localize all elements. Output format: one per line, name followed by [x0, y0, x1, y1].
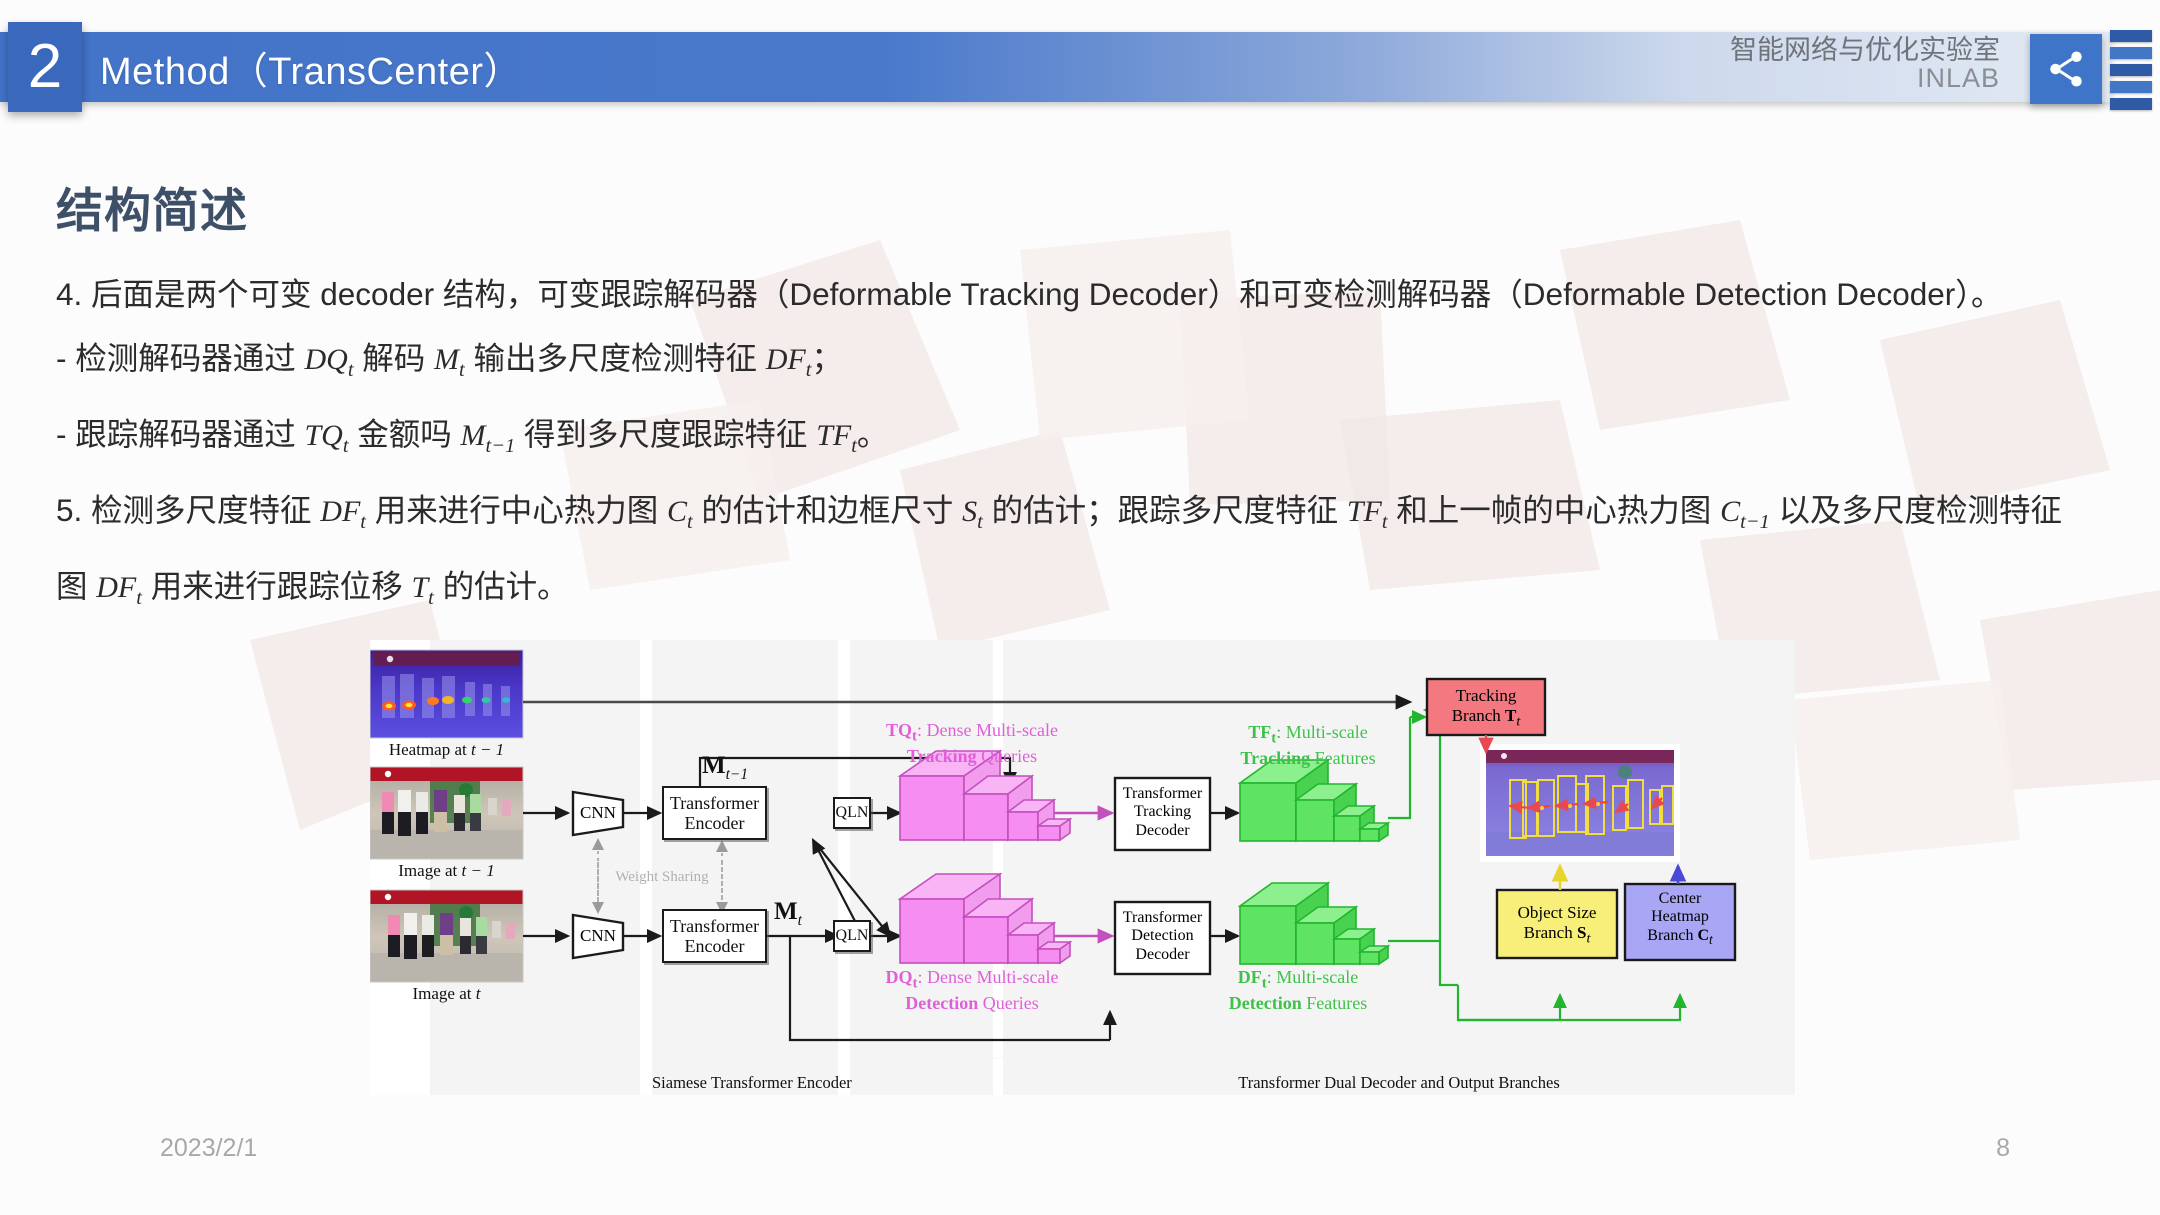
tracking-decoder-label: Transformer Tracking Decoder — [1115, 785, 1210, 840]
df-sym-text: DF — [1238, 967, 1262, 987]
section-label-encoder: Siamese Transformer Encoder — [652, 1073, 838, 1093]
image-thumbnail-prev — [370, 767, 523, 859]
l5-t2: 用来进行中心热力图 — [366, 492, 667, 528]
deco-bar-3 — [2110, 64, 2152, 76]
tracking-result-image — [1480, 744, 1680, 862]
l5-t4: 的估计；跟踪多尺度特征 — [983, 492, 1347, 528]
tracking-features-block — [1240, 760, 1388, 841]
tq-l2-bold: Tracking — [907, 746, 977, 766]
dq-l2-rest: Queries — [978, 993, 1038, 1013]
tracking-decoder-l3: Decoder — [1115, 822, 1210, 840]
m-prev-label: Mt−1 — [702, 752, 748, 784]
dash2-m2-sub: t−1 — [486, 435, 516, 457]
body-line-dash-1: - 检测解码器通过 DQt 解码 Mt 输出多尺度检测特征 DFt； — [56, 326, 2086, 402]
cnn-label-bottom: CNN — [573, 926, 623, 946]
dash1-m1-sym: DQ — [305, 343, 348, 376]
caption-image-prev: Image at t − 1 — [370, 861, 523, 881]
encoder-top-line1: Transformer — [670, 793, 759, 813]
df-l1-rest: : Multi-scale — [1267, 967, 1358, 987]
lab-branding: 智能网络与优化实验室 INLAB — [1730, 36, 2000, 93]
center-heatmap-l1: Center — [1625, 890, 1735, 908]
l5-m4-sym: TF — [1347, 495, 1382, 528]
df-l2-rest: Features — [1302, 993, 1367, 1013]
cnn-label-bottom-text: CNN — [580, 926, 616, 945]
dash1-t1: - 检测解码器通过 — [56, 340, 305, 376]
tf-sym-text: TF — [1248, 722, 1271, 742]
detection-queries-block — [900, 874, 1070, 963]
qln-top-text: QLN — [836, 804, 869, 822]
tf-sym: TFt — [1248, 722, 1276, 742]
center-heatmap-l3: Branch — [1647, 927, 1697, 944]
tracking-decoder-l1: Transformer — [1115, 785, 1210, 803]
caption-image-prev-text: Image at — [398, 861, 461, 880]
diagram-wires — [370, 640, 1795, 1095]
detection-features-block — [1240, 883, 1388, 964]
caption-image-prev-math: t − 1 — [462, 861, 495, 880]
dash1-t3: 输出多尺度检测特征 — [465, 340, 766, 376]
weight-sharing-text: Weight Sharing — [615, 869, 708, 885]
section-number-badge: 2 — [8, 22, 82, 112]
section-label-decoder: Transformer Dual Decoder and Output Bran… — [1003, 1073, 1795, 1093]
tq-label: TQt: Dense Multi-scale Tracking Queries — [857, 720, 1087, 767]
encoder-bottom-line2: Encoder — [670, 936, 759, 956]
dash2-m1-sym: TQ — [305, 419, 343, 452]
tracking-branch-l1: Tracking — [1427, 686, 1545, 706]
dq-sym-text: DQ — [886, 967, 913, 987]
l5-m6-sym: DF — [96, 571, 136, 604]
l5-m1: DFt — [320, 495, 366, 528]
center-heatmap-branch-label: Center Heatmap Branch Ct — [1625, 890, 1735, 947]
l5-m2-sym: C — [667, 495, 687, 528]
section-number: 2 — [28, 36, 62, 98]
dash2-t1: - 跟踪解码器通过 — [56, 416, 305, 452]
l5-m3-sym: S — [962, 495, 977, 528]
body-line-4-text: 4. 后面是两个可变 decoder 结构，可变跟踪解码器（Deformable… — [56, 276, 2003, 312]
caption-heatmap-prev-math: t − 1 — [471, 740, 504, 759]
dash1-m3: DFt — [766, 343, 812, 376]
deco-bar-2 — [2110, 47, 2152, 59]
l5-t7: 用来进行跟踪位移 — [142, 568, 412, 604]
tf-l2-rest: Features — [1310, 748, 1375, 768]
tf-l2-bold: Tracking — [1240, 748, 1310, 768]
dq-sym: DQt — [886, 967, 918, 987]
heatmap-thumbnail-prev — [370, 650, 523, 738]
tq-l1-rest: : Dense Multi-scale — [917, 720, 1058, 740]
object-size-sub: t — [1586, 930, 1590, 946]
tf-label: TFt: Multi-scale Tracking Features — [1208, 722, 1408, 769]
tf-l1-rest: : Multi-scale — [1276, 722, 1367, 742]
tq-sym-text: TQ — [886, 720, 912, 740]
detection-decoder-label: Transformer Detection Decoder — [1115, 909, 1210, 964]
dash1-m3-sym: DF — [766, 343, 806, 376]
l5-m6: DFt — [96, 571, 142, 604]
architecture-diagram: Heatmap at t − 1 Image at t − 1 Image at… — [370, 640, 1795, 1095]
l5-m5-sym: C — [1720, 495, 1740, 528]
transformer-encoder-bottom: Transformer Encoder — [662, 909, 767, 963]
df-l2-bold: Detection — [1229, 993, 1302, 1013]
object-size-branch-label: Object Size Branch St — [1497, 903, 1617, 946]
qln-bottom: QLN — [833, 920, 871, 952]
detection-decoder-l3: Decoder — [1115, 946, 1210, 964]
l5-m7: Tt — [411, 571, 433, 604]
center-heatmap-sym: Ct — [1697, 927, 1712, 944]
dq-l2-bold: Detection — [905, 993, 978, 1013]
dash2-m2-sym: M — [461, 419, 486, 452]
dash1-t2: 解码 — [354, 340, 435, 376]
tracking-branch-sym-text: T — [1505, 706, 1516, 725]
section-label-decoder-text: Transformer Dual Decoder and Output Bran… — [1238, 1073, 1560, 1092]
page-header-title: Method（TransCenter） — [100, 32, 522, 102]
dash2-t4: 。 — [857, 416, 889, 452]
decorative-bars — [2110, 30, 2152, 115]
center-heatmap-l2: Heatmap — [1625, 908, 1735, 926]
footer-date: 2023/2/1 — [160, 1134, 257, 1163]
dash2-m1: TQt — [305, 419, 349, 452]
caption-heatmap-prev-text: Heatmap at — [389, 740, 471, 759]
cnn-label-top-text: CNN — [580, 803, 616, 822]
transformer-encoder-top: Transformer Encoder — [662, 786, 767, 840]
cnn-label-top: CNN — [573, 803, 623, 823]
caption-image-cur: Image at t — [370, 984, 523, 1004]
lab-name-cn: 智能网络与优化实验室 — [1730, 36, 2000, 64]
l5-t3: 的估计和边框尺寸 — [693, 492, 963, 528]
dash1-m2-sym: M — [434, 343, 459, 376]
object-size-sym: St — [1577, 923, 1590, 942]
lab-name-en: INLAB — [1730, 64, 2000, 92]
df-label: DFt: Multi-scale Detection Features — [1198, 967, 1398, 1014]
qln-bottom-text: QLN — [836, 927, 869, 945]
encoder-bottom-line1: Transformer — [670, 916, 759, 936]
tracking-branch-l2: Branch — [1452, 706, 1505, 725]
caption-image-cur-text: Image at — [413, 984, 476, 1003]
encoder-top-line2: Encoder — [670, 813, 759, 833]
df-sym: DFt — [1238, 967, 1267, 987]
l5-m5-sub: t−1 — [1740, 511, 1770, 533]
dash2-m3: TFt — [816, 419, 857, 452]
image-thumbnail-cur — [370, 890, 523, 982]
dash1-m2: Mt — [434, 343, 465, 376]
object-size-l2: Branch — [1524, 923, 1577, 942]
body-line-5: 5. 检测多尺度特征 DFt 用来进行中心热力图 Ct 的估计和边框尺寸 St … — [56, 478, 2086, 630]
l5-m4: TFt — [1347, 495, 1388, 528]
center-heatmap-sym-text: C — [1697, 927, 1709, 944]
l5-m7-sym: T — [411, 571, 428, 604]
l5-m1-sym: DF — [320, 495, 360, 528]
detection-decoder-l2: Detection — [1115, 927, 1210, 945]
l5-t1: 5. 检测多尺度特征 — [56, 492, 320, 528]
dq-label: DQt: Dense Multi-scale Detection Queries — [857, 967, 1087, 1014]
tracking-branch-sub: t — [1516, 713, 1520, 729]
l5-m2: Ct — [667, 495, 693, 528]
l5-m3: St — [962, 495, 983, 528]
l5-t5: 和上一帧的中心热力图 — [1388, 492, 1721, 528]
deco-bar-4 — [2110, 81, 2152, 93]
tracking-branch-sym: Tt — [1505, 706, 1520, 725]
dash2-t3: 得到多尺度跟踪特征 — [515, 416, 816, 452]
dash2-m3-sym: TF — [816, 419, 851, 452]
tracking-decoder-l2: Tracking — [1115, 803, 1210, 821]
body-line-4: 4. 后面是两个可变 decoder 结构，可变跟踪解码器（Deformable… — [56, 262, 2086, 326]
slide-canvas: 2 Method（TransCenter） 智能网络与优化实验室 INLAB 结… — [0, 0, 2160, 1215]
page-title: 结构简述 — [56, 172, 248, 241]
deco-bar-5 — [2110, 98, 2152, 110]
l5-m5: Ct−1 — [1720, 495, 1770, 528]
tq-sym: TQt — [886, 720, 917, 740]
center-heatmap-sub: t — [1709, 932, 1713, 947]
share-icon — [2045, 48, 2087, 90]
qln-top: QLN — [833, 797, 871, 829]
dq-l1-rest: : Dense Multi-scale — [918, 967, 1059, 987]
body-text: 4. 后面是两个可变 decoder 结构，可变跟踪解码器（Deformable… — [56, 262, 2086, 630]
body-line-dash-2: - 跟踪解码器通过 TQt 金额吗 Mt−1 得到多尺度跟踪特征 TFt。 — [56, 402, 2086, 478]
section-label-encoder-text: Siamese Transformer Encoder — [652, 1073, 852, 1092]
caption-image-cur-math: t — [476, 984, 481, 1003]
m-prev-sub: t−1 — [726, 766, 749, 783]
dash2-m2: Mt−1 — [461, 419, 516, 452]
dash1-t4: ； — [811, 340, 843, 376]
dash2-t2: 金额吗 — [349, 416, 461, 452]
tq-l2-rest: Queries — [977, 746, 1037, 766]
caption-heatmap-prev: Heatmap at t − 1 — [370, 740, 523, 760]
deco-bar-1 — [2110, 30, 2152, 42]
m-cur-label: Mt — [774, 898, 802, 930]
footer-page-number: 8 — [1996, 1134, 2010, 1163]
tracking-branch-label: Tracking Branch Tt — [1427, 686, 1545, 729]
dash1-m1: DQt — [305, 343, 354, 376]
share-button[interactable] — [2030, 34, 2102, 104]
detection-decoder-l1: Transformer — [1115, 909, 1210, 927]
weight-sharing-label: Weight Sharing — [606, 869, 718, 886]
l5-t8: 的估计。 — [434, 568, 569, 604]
object-size-l1: Object Size — [1497, 903, 1617, 923]
m-cur-sub: t — [798, 912, 802, 929]
m-prev-sym: M — [702, 752, 726, 779]
m-cur-sym: M — [774, 898, 798, 925]
